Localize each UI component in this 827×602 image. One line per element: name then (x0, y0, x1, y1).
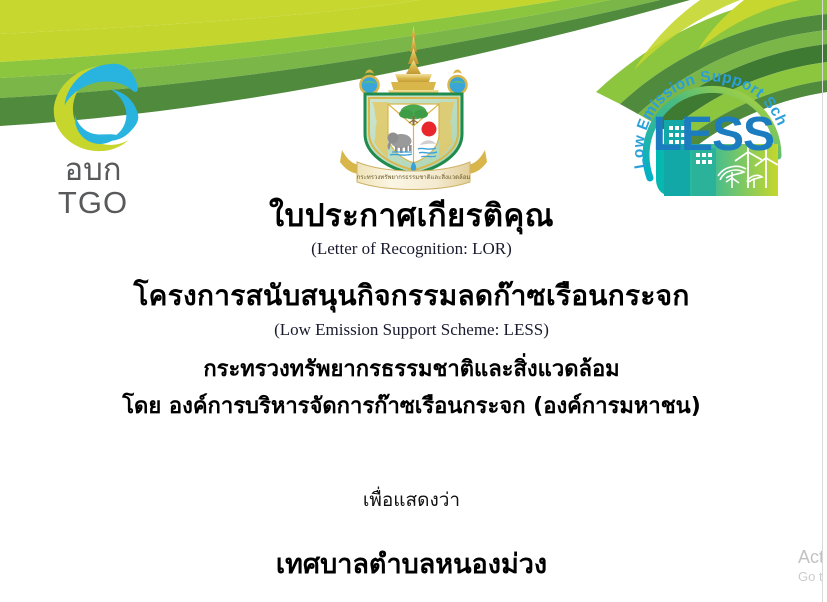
emblem-banner-text: กระทรวงทรัพยากรธรรมชาติและสิ่งแวดล้อม (357, 173, 471, 181)
windows-activation-watermark: Activate Windows Go to Settings to activ… (798, 546, 822, 586)
issuing-agency-thai: โดย องค์การบริหารจัดการก๊าซเรือนกระจก (อ… (0, 390, 823, 424)
scheme-name-english: (Low Emission Support Scheme: LESS) (0, 318, 823, 342)
tgo-c-mark-icon (44, 58, 142, 156)
ministry-name-thai: กระทรวงทรัพยากรธรรมชาติและสิ่งแวดล้อม (0, 353, 823, 387)
certificate-text-block: ใบประกาศเกียรติคุณ (Letter of Recognitio… (0, 196, 823, 585)
less-logo: Low Emission Support Scheme (628, 48, 796, 216)
scheme-name-thai: โครงการสนับสนุนกิจกรรมลดก๊าซเรือนกระจก (0, 275, 823, 317)
certificate-title-thai: ใบประกาศเกียรติคุณ (0, 196, 823, 236)
certificate-page: อบก TGO (0, 0, 827, 602)
tgo-thai-acronym: อบก (38, 155, 148, 186)
emblem-spire-icon (388, 26, 439, 104)
activation-subtitle: Go to Settings to activate Windows. (798, 568, 822, 586)
activation-title: Activate Windows (798, 546, 822, 568)
tgo-logo: อบก TGO (38, 58, 148, 218)
certificate-title-english: (Letter of Recognition: LOR) (0, 237, 823, 261)
emblem-sun-icon (422, 122, 437, 137)
recipient-name-thai: เทศบาลตำบลหนองม่วง (0, 545, 823, 585)
less-wordmark: LESS (653, 108, 774, 161)
certify-statement-thai: เพื่อแสดงว่า (0, 486, 823, 514)
ministry-of-natural-resources-and-environment-emblem: กระทรวงทรัพยากรธรรมชาติและสิ่งแวดล้อม (332, 22, 495, 198)
